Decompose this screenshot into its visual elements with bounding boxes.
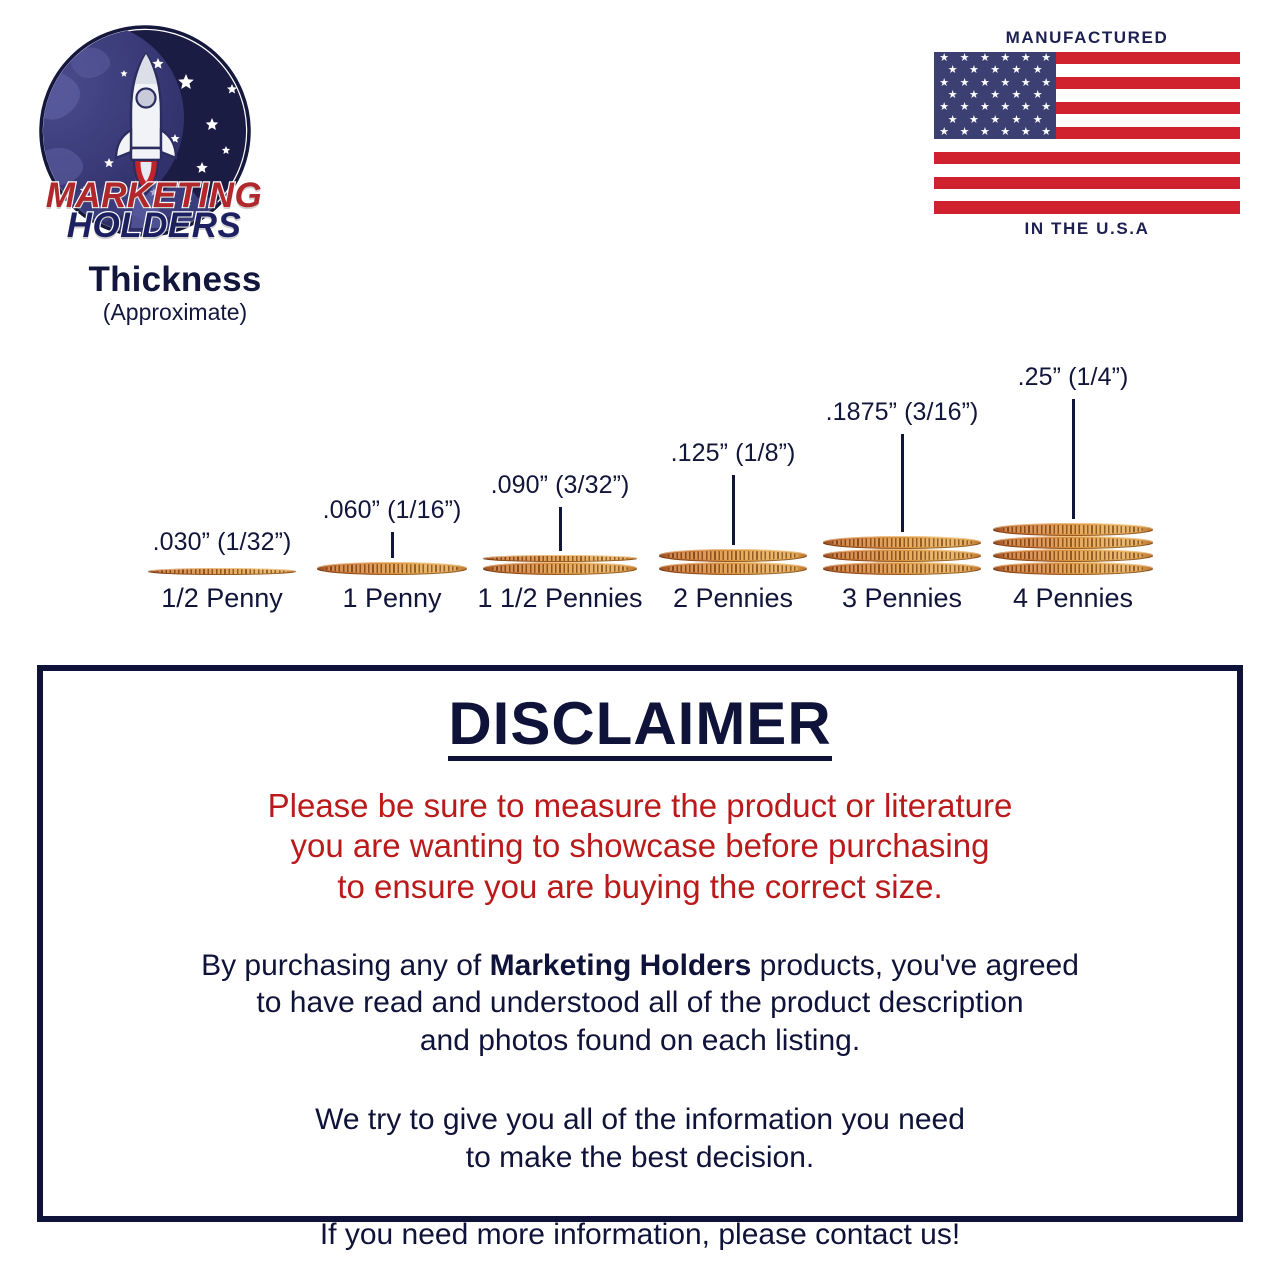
coin-stack [993,523,1153,575]
disclaimer-warning-line-1: Please be sure to measure the product or… [83,786,1197,826]
coin-measurement-label: .25” (1/4”) [1018,363,1129,392]
disclaimer-information-text: We try to give you all of the informatio… [83,1101,1197,1176]
flag-canton: ★★★★★★ ★★★★★ ★★★★★★ ★★★★★ ★★★★★★ ★★★★★ ★… [934,52,1056,139]
disclaimer-box: DISCLAIMER Please be sure to measure the… [37,665,1243,1222]
disclaimer-contact-text: If you need more information, please con… [83,1216,1197,1254]
coin-leader-line [732,475,735,545]
disclaimer-agreement-line-2: to have read and understood all of the p… [83,984,1197,1022]
brand-logo: MARKETING HOLDERS [36,22,276,237]
disclaimer-warning-line-3: to ensure you are buying the correct siz… [83,867,1197,907]
disclaimer-information-line-2: to make the best decision. [83,1139,1197,1177]
disclaimer-information-line-1: We try to give you all of the informatio… [83,1101,1197,1139]
penny-edge [993,549,1153,562]
disclaimer-agreement-line-1: By purchasing any of Marketing Holders p… [83,947,1197,985]
disclaimer-warning-line-2: you are wanting to showcase before purch… [83,826,1197,866]
coin-thickness-chart: .030” (1/32”)1/2 Penny.060” (1/16”)1 Pen… [0,330,1280,620]
coin-column: .25” (1/4”)4 Pennies [913,330,1233,620]
agreement-post: products, you've agreed [751,949,1079,982]
coin-leader-line [901,434,904,532]
disclaimer-heading: DISCLAIMER [448,693,831,761]
manufactured-caption: MANUFACTURED [930,28,1244,48]
penny-edge [993,536,1153,549]
thickness-heading-block: Thickness (Approximate) [40,262,310,325]
coin-count-label: 4 Pennies [1013,583,1133,614]
coin-leader-line [559,507,562,551]
thickness-subtitle: (Approximate) [40,300,310,325]
penny-edge [993,523,1153,536]
coin-leader-line [391,532,394,558]
usa-flag-icon: ★★★★★★ ★★★★★ ★★★★★★ ★★★★★ ★★★★★★ ★★★★★ ★… [934,52,1240,214]
thickness-title: Thickness [40,262,310,299]
coin-leader-line [1072,399,1075,519]
agreement-brand: Marketing Holders [490,949,752,982]
penny-edge [993,562,1153,575]
made-in-usa-block: MANUFACTURED ★★★★★★ ★★★★★ ★★★★★★ ★★★★★ ★… [930,28,1244,246]
agreement-pre: By purchasing any of [201,949,490,982]
disclaimer-warning-text: Please be sure to measure the product or… [83,786,1197,907]
rocket-planet-badge-icon [36,22,254,240]
in-the-usa-caption: IN THE U.S.A [930,219,1244,239]
disclaimer-agreement-line-3: and photos found on each listing. [83,1022,1197,1060]
disclaimer-agreement-text: By purchasing any of Marketing Holders p… [83,947,1197,1060]
